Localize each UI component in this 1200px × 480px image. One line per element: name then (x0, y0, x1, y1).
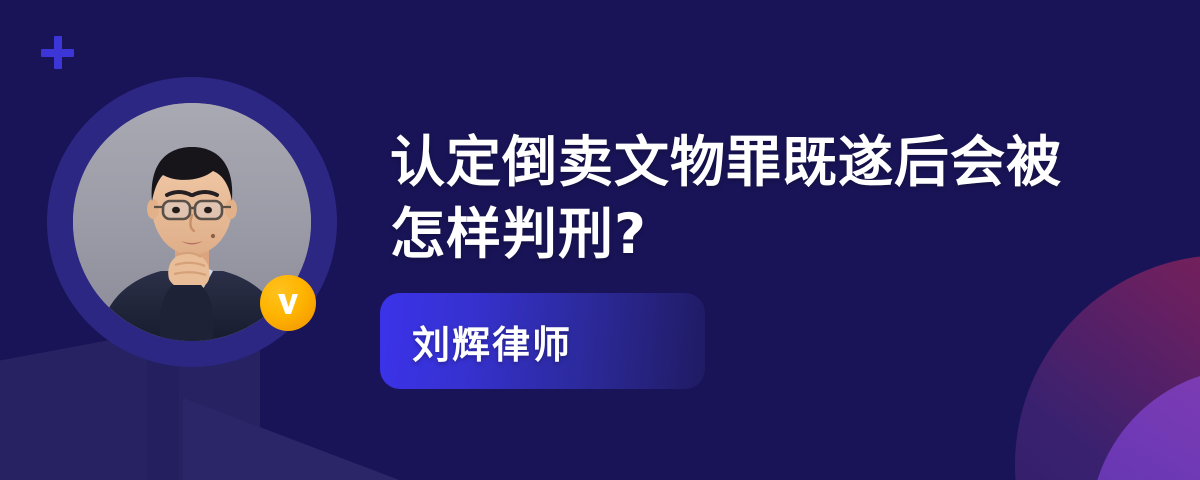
verified-check-icon (260, 275, 316, 331)
headline-block: 认定倒卖文物罪既遂后会被怎样判刑? (390, 126, 1090, 270)
avatar (47, 77, 337, 367)
plus-icon (41, 36, 74, 69)
lawyer-name-label: 刘辉律师 (412, 314, 572, 369)
page-title: 认定倒卖文物罪既遂后会被怎样判刑? (390, 126, 1090, 270)
lawyer-qa-banner: 认定倒卖文物罪既遂后会被怎样判刑? 刘辉律师 (0, 0, 1200, 480)
lawyer-name-badge[interactable]: 刘辉律师 (380, 293, 705, 389)
